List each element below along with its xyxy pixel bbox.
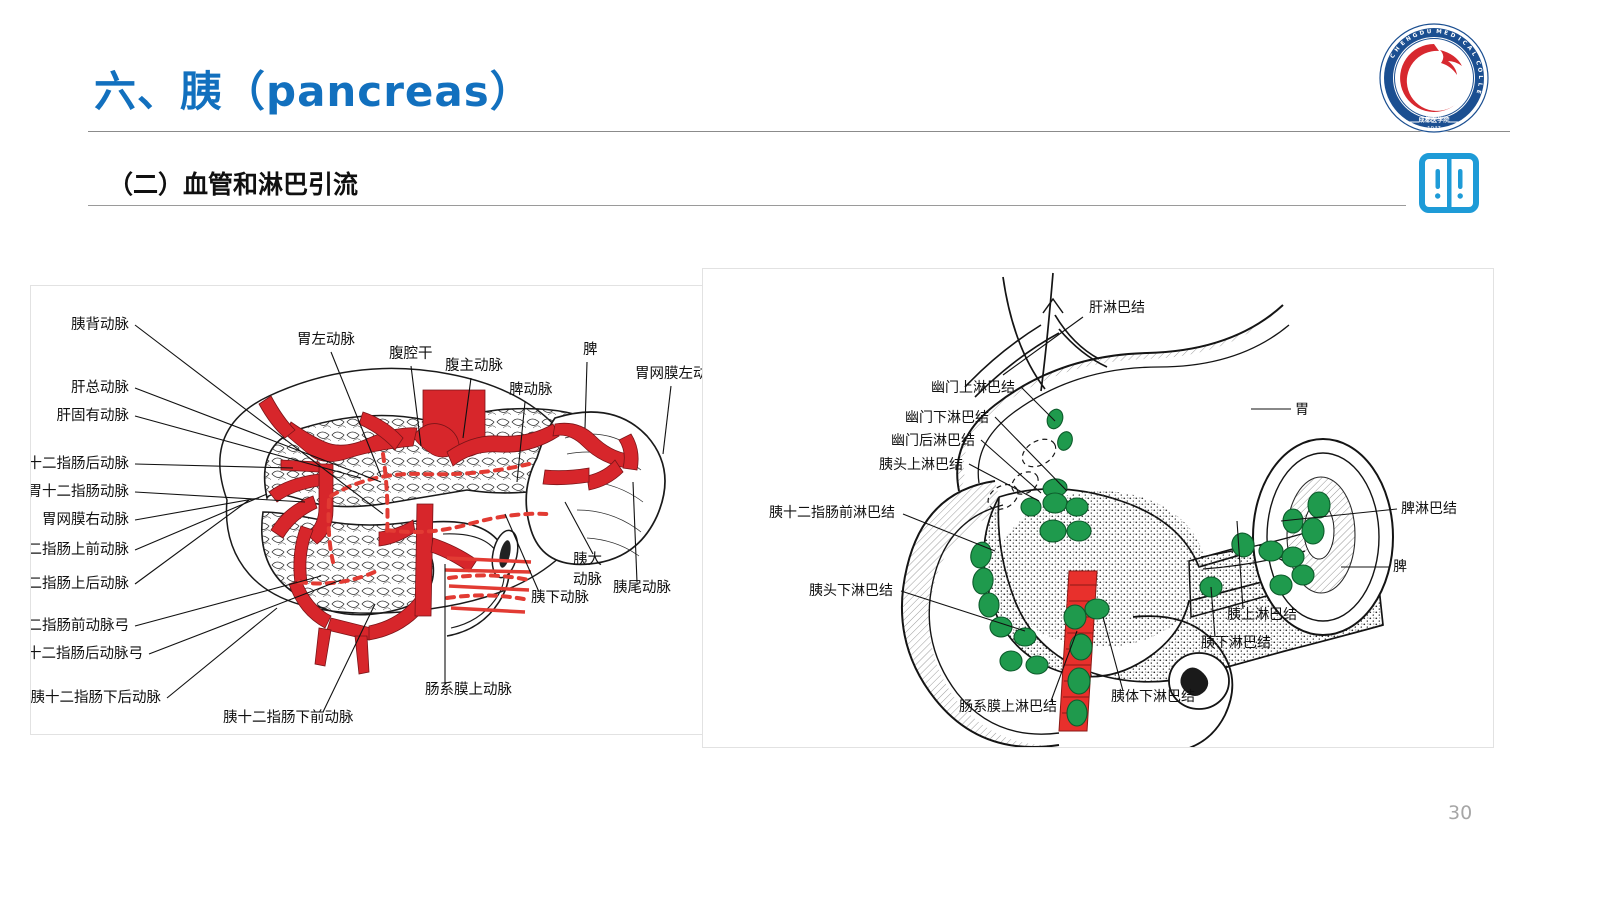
label-anterior-sup-pancreaticoduodenal: 胰十二指肠上前动脉 [31,541,129,558]
label-inferior-pancreatic-nodes: 胰下淋巴结 [1201,635,1271,651]
label-superior-pancreatic-head-nodes: 胰头上淋巴结 [879,457,963,473]
subtitle-divider [88,205,1406,206]
label-retroduodenal-artery: 十二指肠后动脉 [31,455,129,472]
figure-pancreas-arteries: 胰背动脉胃左动脉腹腔干腹主动脉脾胃网膜左动脾动脉肝总动脉肝固有动脉十二指肠后动脉… [30,285,704,735]
label-right-gastroepiploic-artery: 胃网膜右动脉 [42,511,129,528]
label-great-pancreatic-artery-l2: 动脉 [573,571,602,588]
svg-text:M: M [1436,29,1443,36]
label-posterior-sup-pancreaticoduodenal: 胰十二指肠上后动脉 [31,575,129,592]
label-celiac-trunk: 腹腔干 [389,345,433,362]
label-inferior-pancreatic-head-nodes: 胰头下淋巴结 [809,583,893,599]
slide-root: 六、胰（pancreas） （二）血管和淋巴引流 C H E N G D U [0,0,1600,900]
label-spleen: 脾 [583,341,598,358]
section-subtitle: （二）血管和淋巴引流 [108,165,358,201]
label-infrapancreatic-body-nodes: 胰体下淋巴结 [1111,689,1195,705]
label-great-pancreatic-artery-l1: 胰大 [573,551,602,568]
label-left-gastroepiploic-artery: 胃网膜左动 [635,365,703,382]
label-left-gastric-artery: 胃左动脉 [297,331,355,348]
label-anterior-pancreaticoduodenal: 胰十二指肠前淋巴结 [769,504,895,521]
label-abdominal-aorta: 腹主动脉 [445,357,503,374]
label-hepatic-lymph-nodes: 肝淋巴结 [1089,300,1145,316]
double-exclamation-icon[interactable] [1419,153,1479,213]
label-subpyloric-lymph-nodes: 幽门下淋巴结 [905,410,989,426]
label-superior-mesenteric-artery: 肠系膜上动脉 [425,681,512,698]
label-retropyloric-lymph-nodes: 幽门后淋巴结 [891,433,975,449]
label-anterior-inf-pancreaticoduodenal: 胰十二指肠下前动脉 [223,709,354,726]
figure-pancreas-lymph-nodes: 肝淋巴结幽门上淋巴结幽门下淋巴结幽门后淋巴结胰头上淋巴结胰十二指肠前淋巴结胰头下… [702,268,1494,748]
page-number: 30 [1448,802,1472,824]
label-proper-hepatic-artery: 肝固有动脉 [57,407,130,424]
label-suprapyloric-lymph-nodes: 幽门上淋巴结 [931,380,1015,396]
label-splenic-lymph-nodes: 脾淋巴结 [1401,501,1457,517]
chengdu-medical-college-logo: C H E N G D U M E D I C A L C O L L E 成都… [1378,22,1490,134]
label-spleen: 脾 [1393,559,1407,575]
title-divider [88,131,1510,132]
label-superior-pancreatic-nodes: 胰上淋巴结 [1227,607,1297,623]
label-stomach: 胃 [1295,402,1309,418]
label-common-hepatic-artery: 肝总动脉 [71,379,129,396]
svg-text:L: L [1477,75,1483,79]
label-splenic-artery: 脾动脉 [509,381,553,398]
label-posterior-inf-pancreaticoduodenal: 胰十二指肠下后动脉 [31,689,161,706]
logo-chinese-name: 成都医学院 [1419,116,1451,124]
label-superior-mesenteric-nodes: 肠系膜上淋巴结 [959,699,1057,715]
logo-year: 1947 [1427,126,1441,132]
label-anterior-pancreaticoduodenal-arcade: 胰十二指肠前动脉弓 [31,617,129,634]
label-inferior-pancreatic-artery: 胰下动脉 [531,589,589,606]
label-posterior-pancreaticoduodenal-arcade: 胰十二指肠后动脉弓 [31,645,143,662]
label-gastroduodenal-artery: 胃十二指肠动脉 [31,483,129,500]
page-title: 六、胰（pancreas） [94,58,533,119]
label-pancreatic-dorsal-artery: 胰背动脉 [71,316,129,333]
label-caudal-pancreatic-artery: 胰尾动脉 [613,579,671,596]
